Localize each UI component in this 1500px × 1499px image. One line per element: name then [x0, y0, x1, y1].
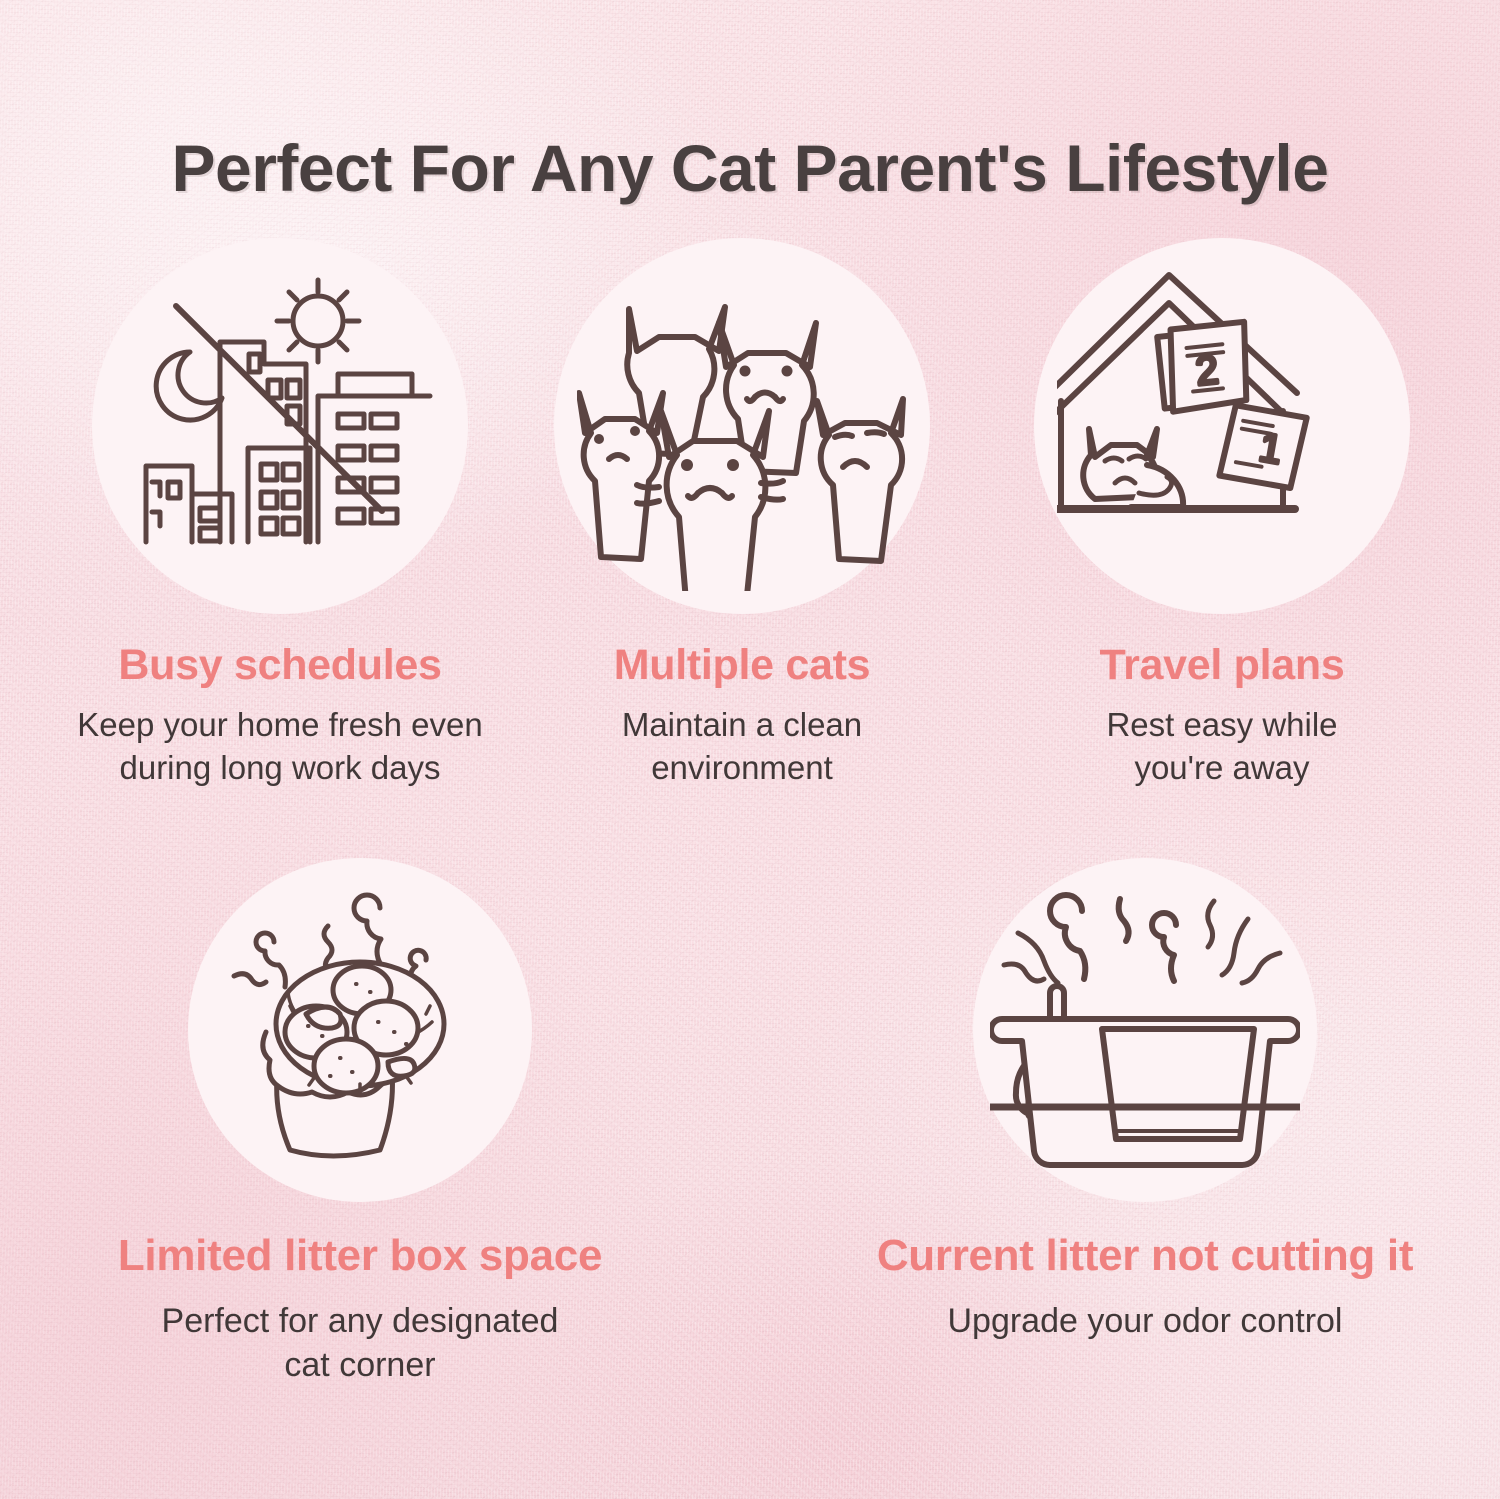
feature-heading: Current litter not cutting it: [877, 1231, 1413, 1281]
feature-row-bottom: Limited litter box space Perfect for any…: [0, 858, 1500, 1387]
feature-body: Perfect for any designated cat corner: [162, 1299, 559, 1387]
feature-body-line: Rest easy while: [1106, 704, 1337, 747]
feature-body-line: environment: [622, 747, 862, 790]
infographic-page: Perfect For Any Cat Parent's Lifestyle: [0, 0, 1500, 1499]
calendar-number-2: 2: [1194, 348, 1221, 394]
icon-bubble-travel-plans: 2 1: [1034, 238, 1410, 614]
feature-card-busy-schedules: Busy schedules Keep your home fresh even…: [47, 238, 513, 790]
feature-body-line: during long work days: [77, 747, 482, 790]
feature-card-multiple-cats: Multiple cats Maintain a clean environme…: [509, 238, 975, 790]
feature-card-current-litter: Current litter not cutting it Upgrade yo…: [845, 858, 1445, 1387]
feature-body-line: Maintain a clean: [622, 704, 862, 747]
feature-row-top: Busy schedules Keep your home fresh even…: [0, 238, 1500, 790]
feature-body: Upgrade your odor control: [947, 1299, 1342, 1343]
feature-heading: Limited litter box space: [118, 1231, 602, 1281]
feature-body-line: you're away: [1106, 747, 1337, 790]
icon-bubble-current-litter: [973, 858, 1317, 1202]
feature-body: Keep your home fresh even during long wo…: [77, 704, 482, 790]
feature-body: Rest easy while you're away: [1106, 704, 1337, 790]
feature-heading: Travel plans: [1100, 641, 1345, 690]
feature-heading: Multiple cats: [614, 641, 871, 690]
feature-heading: Busy schedules: [118, 641, 441, 690]
feature-body: Maintain a clean environment: [622, 704, 862, 790]
feature-body-line: Upgrade your odor control: [947, 1299, 1342, 1343]
icon-bubble-multiple-cats: [554, 238, 930, 614]
icon-bubble-busy-schedules: [92, 238, 468, 614]
feature-body-line: cat corner: [162, 1343, 559, 1387]
feature-body-line: Keep your home fresh even: [77, 704, 482, 747]
overflowing-litter-bin-icon: [210, 880, 510, 1180]
page-title: Perfect For Any Cat Parent's Lifestyle: [0, 130, 1500, 206]
feature-card-travel-plans: 2 1 Travel plans: [989, 238, 1455, 790]
icon-bubble-limited-space: [188, 858, 532, 1202]
feature-card-limited-space: Limited litter box space Perfect for any…: [60, 858, 660, 1387]
city-day-night-icon: [120, 266, 440, 586]
feature-body-line: Perfect for any designated: [162, 1299, 559, 1343]
house-with-cat-calendar-icon: 2 1: [1057, 261, 1387, 591]
multiple-cats-icon: [577, 261, 907, 591]
litter-box-with-scoop-odor-icon: [990, 875, 1300, 1185]
